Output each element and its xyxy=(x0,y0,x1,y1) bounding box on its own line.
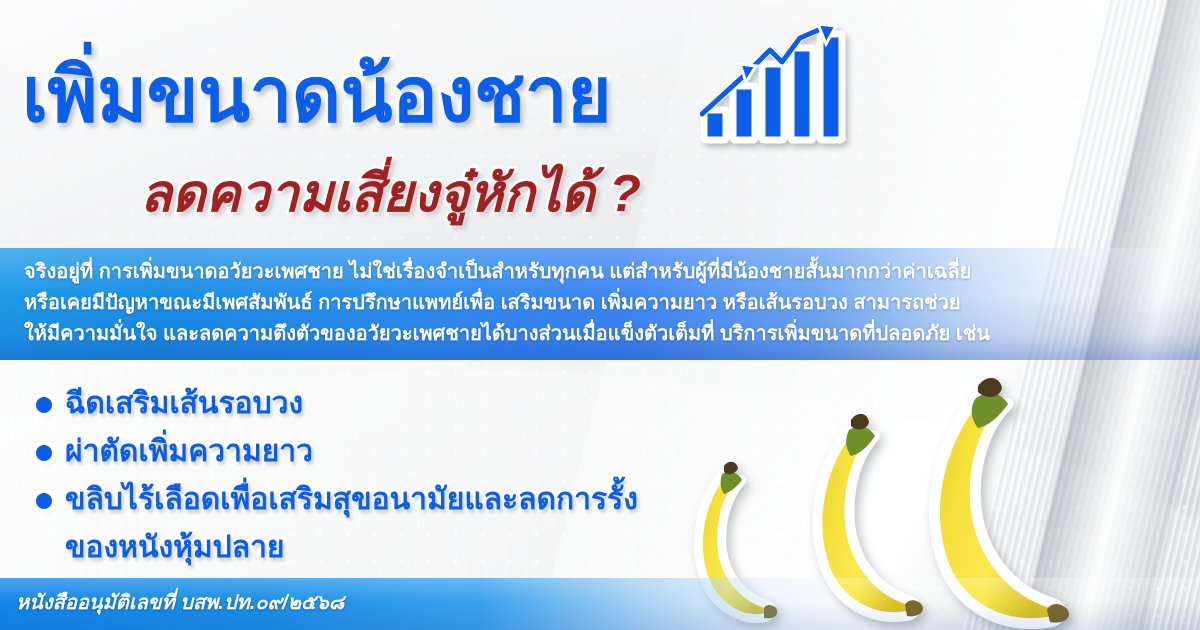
list-item: ฉีดเสริมเส้นรอบวง xyxy=(36,382,726,426)
growth-bar-chart-icon xyxy=(700,24,850,144)
list-item-label: ขลิบไร้เลือดเพื่อเสริมสุขอนามัยและลดการร… xyxy=(65,478,638,522)
service-list: ฉีดเสริมเส้นรอบวง ผ่าตัดเพิ่มความยาว ขลิ… xyxy=(36,382,726,570)
bullet-dot-icon xyxy=(36,493,52,509)
page-subtitle: ลดความเสี่ยงจู๋หักได้ ? xyxy=(140,168,641,220)
list-item-label: ฉีดเสริมเส้นรอบวง xyxy=(65,382,303,426)
info-line-1: จริงอยู่ที่ การเพิ่มขนาดอวัยวะเพศชาย ไม่… xyxy=(24,257,1060,288)
bullet-dot-icon xyxy=(36,397,52,413)
approval-number-text: หนังสืออนุมัติเลขที่ บสพ.ปท.๐๙/๒๕๖๘ xyxy=(16,586,344,618)
bullet-dot-icon xyxy=(36,445,52,461)
list-item: ผ่าตัดเพิ่มความยาว xyxy=(36,430,726,474)
promo-banner: เพิ่มขนาดน้องชาย ลดความเสี่ยงจู๋หักได้ ?… xyxy=(0,0,1200,630)
page-title: เพิ่มขนาดน้องชาย xyxy=(22,58,611,134)
list-item-label: ผ่าตัดเพิ่มความยาว xyxy=(65,430,313,474)
info-line-3: ให้มีความมั่นใจ และลดความตึงตัวของอวัยวะ… xyxy=(24,319,1060,350)
list-item-label-continued: ของหนังหุ้มปลาย xyxy=(65,526,726,570)
info-band-text: จริงอยู่ที่ การเพิ่มขนาดอวัยวะเพศชาย ไม่… xyxy=(0,248,1060,360)
list-item: ขลิบไร้เลือดเพื่อเสริมสุขอนามัยและลดการร… xyxy=(36,478,726,522)
info-line-2: หรือเคยมีปัญหาขณะมีเพศสัมพันธ์ การปรึกษา… xyxy=(24,288,1060,319)
headline-area: เพิ่มขนาดน้องชาย ลดความเสี่ยงจู๋หักได้ ? xyxy=(0,0,1200,246)
